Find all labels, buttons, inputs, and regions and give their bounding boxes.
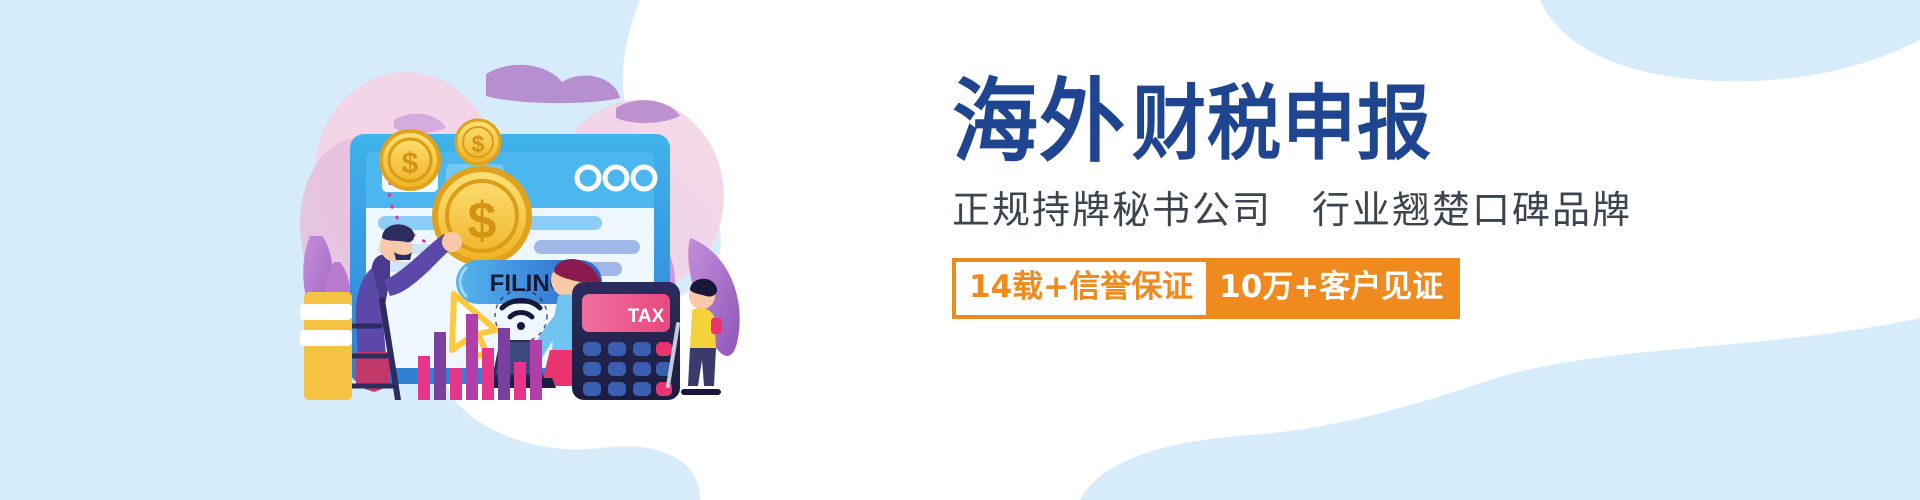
copy-block: 海外 财税申报 正规持牌秘书公司 行业翘楚口碑品牌 14载+信誉保证 10万+客…	[952, 72, 1712, 362]
page-title: 海外 财税申报	[952, 72, 1712, 168]
calculator: TAX	[572, 282, 680, 400]
svg-text:$: $	[402, 147, 419, 180]
promo-banner: $ $ $	[0, 0, 1920, 500]
badge-group: 14载+信誉保证 10万+客户见证	[952, 258, 1460, 319]
subtitle: 正规持牌秘书公司 行业翘楚口碑品牌	[952, 190, 1712, 232]
headline-primary: 海外	[952, 77, 1126, 168]
status-badge-clients: 10万+客户见证	[1206, 258, 1460, 319]
coin-small-top: $	[456, 120, 500, 164]
headline-secondary: 财税申报	[1132, 83, 1432, 168]
calculator-display-label: TAX	[628, 306, 665, 327]
svg-text:$: $	[472, 131, 485, 157]
svg-text:$: $	[468, 192, 497, 250]
hero-illustration: $ $ $	[286, 56, 756, 400]
status-badge-experience: 14载+信誉保证	[952, 258, 1206, 319]
coin-small-left: $	[381, 131, 439, 189]
